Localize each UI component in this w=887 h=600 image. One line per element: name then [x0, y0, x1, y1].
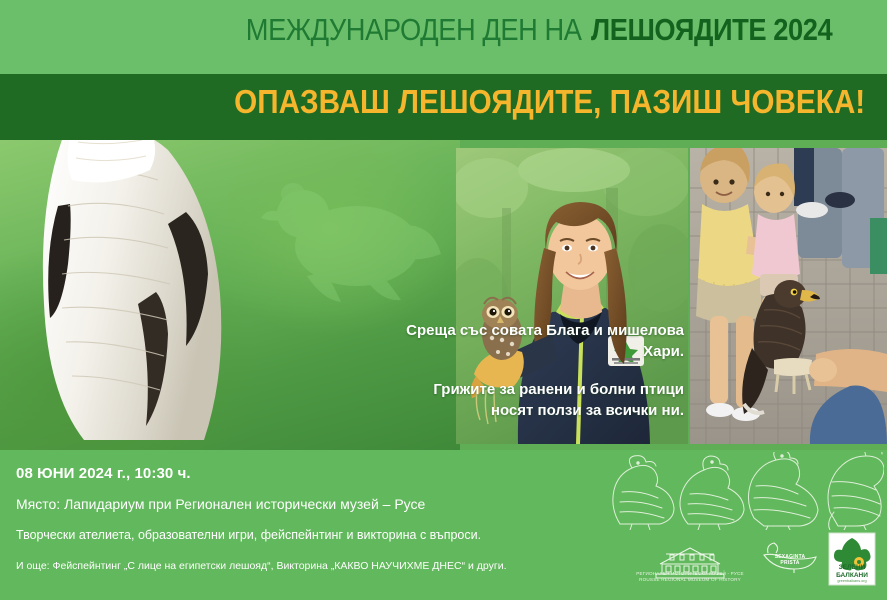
caption-care: Грижите за ранени и болни птици носят по… [390, 379, 684, 422]
photo-children-with-buzzard[interactable] [690, 148, 887, 444]
vulture-day-poster: МЕЖДУНАРОДЕН ДЕН НАЛЕШОЯДИТЕ 2024 ОПАЗВА… [0, 0, 887, 600]
event-place: Място: Лапидариум при Регионален историч… [16, 496, 425, 512]
event-more-activities: И още: Фейспейнтинг „С лице на египетски… [16, 560, 507, 572]
egyptian-vulture-photo [18, 140, 232, 444]
ghost-vulture-icon [245, 168, 445, 318]
photo-stage: ИЗЧЕЗНАЛ ВИД В БЪЛГАРИЯ [0, 140, 887, 450]
headline-light-part: МЕЖДУНАРОДЕН ДЕН НА [246, 14, 582, 45]
logo-rousse-museum[interactable]: РЕГИОНАЛЕН ИСТОРИЧЕСКИ МУЗЕЙ - РУСЕ ROUS… [632, 534, 748, 584]
headline-bold-part: ЛЕШОЯДИТЕ 2024 [591, 14, 832, 45]
info-band: 08 ЮНИ 2024 г., 10:30 ч. Място: Лапидари… [0, 450, 887, 600]
logo-museum-line-en: ROUSSE REGIONAL MUSEUM OF HISTORY [632, 577, 748, 584]
logo-green-balkans[interactable]: ЗЕЛЕНИ БАЛКАНИ greenbalkans.org [828, 532, 876, 586]
logo-museum-line-bg: РЕГИОНАЛЕН ИСТОРИЧЕСКИ МУЗЕЙ - РУСЕ [632, 571, 748, 578]
logo-green-line2: БАЛКАНИ [828, 572, 876, 579]
stage-captions: Среща със совата Блага и мишелова Хари. … [390, 320, 690, 421]
logo-sexaginta-line2: PRISTA [760, 560, 820, 566]
caption-meeting: Среща със совата Блага и мишелова Хари. [390, 320, 684, 363]
slogan-text: ОПАЗВАШ ЛЕШОЯДИТЕ, ПАЗИШ ЧОВЕКА! [234, 85, 865, 118]
event-date: 08 ЮНИ 2024 г., 10:30 ч. [16, 465, 191, 482]
logo-green-balkans-caption: ЗЕЛЕНИ БАЛКАНИ [828, 564, 876, 579]
logo-green-line1: ЗЕЛЕНИ [828, 564, 876, 571]
logo-green-balkans-url: greenbalkans.org [828, 580, 876, 584]
title-band: МЕЖДУНАРОДЕН ДЕН НАЛЕШОЯДИТЕ 2024 [0, 0, 887, 74]
event-activities: Творчески ателиета, образователни игри, … [16, 528, 481, 542]
slogan-band: ОПАЗВАШ ЛЕШОЯДИТЕ, ПАЗИШ ЧОВЕКА! [0, 74, 887, 140]
partner-logos: РЕГИОНАЛЕН ИСТОРИЧЕСКИ МУЗЕЙ - РУСЕ ROUS… [614, 532, 876, 588]
logo-sexaginta-caption: SEXAGINTA PRISTA [760, 554, 820, 567]
logo-museum-caption: РЕГИОНАЛЕН ИСТОРИЧЕСКИ МУЗЕЙ - РУСЕ ROUS… [632, 571, 748, 584]
vulture-lineart-icons [602, 452, 884, 530]
headline: МЕЖДУНАРОДЕН ДЕН НАЛЕШОЯДИТЕ 2024 [200, 14, 865, 45]
logo-sexaginta-prista[interactable]: SEXAGINTA PRISTA [760, 541, 820, 573]
